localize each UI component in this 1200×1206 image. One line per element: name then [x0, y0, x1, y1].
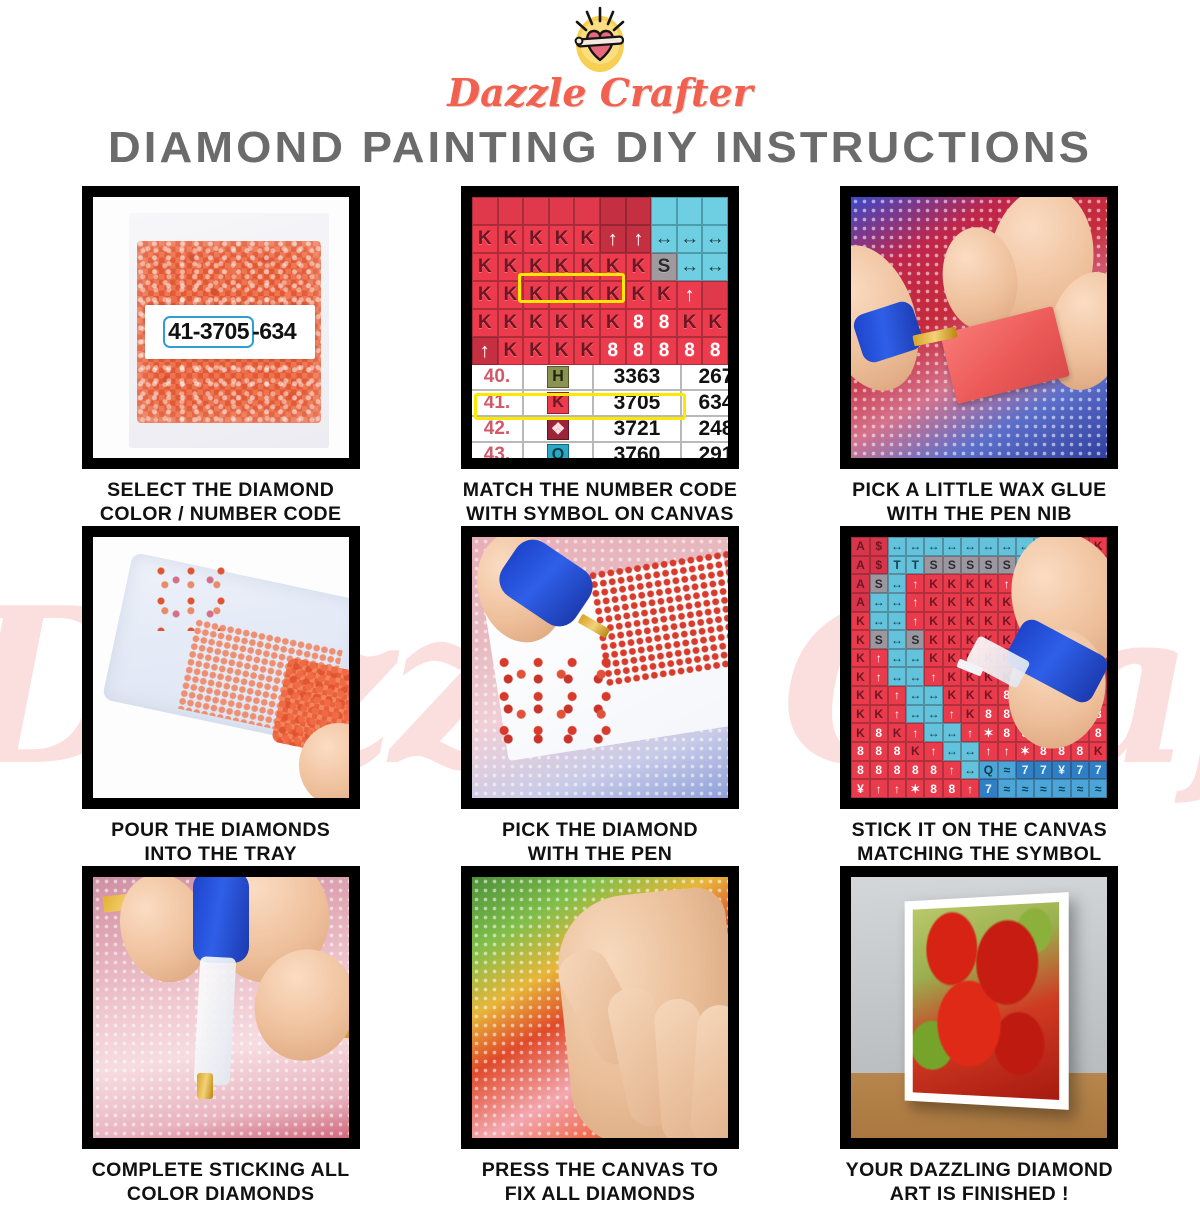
row-number: 40. — [472, 365, 524, 389]
row-symbol-cell: Q — [524, 443, 594, 458]
step-5-caption-line1: PICK THE DIAMOND — [450, 818, 750, 842]
bag-code-text: 41-3705-634 — [163, 316, 296, 348]
row-dmc-code: 3363 — [594, 365, 682, 389]
step-1-image: 41-3705-634 — [82, 186, 360, 469]
step-8-caption: PRESS THE CANVAS TO FIX ALL DIAMONDS — [450, 1158, 750, 1206]
step-7-image — [82, 866, 360, 1149]
table-row: 42. ❖ 3721 248 — [472, 417, 728, 443]
step-9-caption-line2: ART IS FINISHED ! — [829, 1182, 1129, 1206]
step-8-image — [461, 866, 739, 1149]
table-row: 40. H 3363 267 — [472, 365, 728, 391]
step-card-4: POUR THE DIAMONDS INTO THE TRAY — [62, 526, 379, 866]
pen-nib — [197, 1073, 213, 1099]
step-2-caption: MATCH THE NUMBER CODE WITH SYMBOL ON CAN… — [450, 478, 750, 526]
row-number: 43. — [472, 443, 524, 458]
step-5-image — [461, 526, 739, 809]
step-3-caption-line1: PICK A LITTLE WAX GLUE — [829, 478, 1129, 502]
bag-code-label: 41-3705-634 — [145, 305, 315, 359]
symbol-swatch: K — [547, 392, 569, 414]
bag-code-highlight: 41-3705 — [163, 316, 254, 348]
poster-header: Dazzle Crafter DIAMOND PAINTING DIY INST… — [0, 0, 1200, 172]
picture-frame — [905, 892, 1069, 1110]
row-symbol-cell: K — [524, 391, 594, 415]
row-dmc-code: 3705 — [594, 391, 682, 415]
instruction-poster: Dazzle Crafter DIAMOND PAINTING DIY INST… — [0, 0, 1200, 1200]
row-quantity: 291 — [682, 443, 728, 458]
color-legend-table: 40. H 3363 267 41. K 3705 634 — [472, 365, 728, 458]
canvas-grid-highlight — [518, 273, 625, 303]
table-row: 41. K 3705 634 — [472, 391, 728, 417]
step-4-image — [82, 526, 360, 809]
step-6-caption: STICK IT ON THE CANVAS MATCHING THE SYMB… — [829, 818, 1129, 866]
step-card-6: A$↔↔↔↔↔↔↔↔↔↑KK A$TTSSSSS↔↔SKK AS↔↑KKKK↑↔… — [821, 526, 1138, 866]
steps-grid: 41-3705-634 SELECT THE DIAMOND COLOR / N… — [0, 186, 1200, 1206]
step-5-caption-line2: WITH THE PEN — [450, 842, 750, 866]
row-quantity: 248 — [682, 417, 728, 441]
row-quantity: 634 — [682, 391, 728, 415]
bag-code-suffix: -634 — [252, 318, 296, 344]
step-2-caption-line2: WITH SYMBOL ON CANVAS — [450, 502, 750, 526]
heart-with-pin-icon — [563, 4, 637, 76]
step-2-image: KKK KK ↑↑ ↔↔↔ KKK KKKK S↔↔ KKK KKKK K↑ — [461, 186, 739, 469]
step-card-7: COMPLETE STICKING ALL COLOR DIAMONDS — [62, 866, 379, 1206]
color-chart: KKK KK ↑↑ ↔↔↔ KKK KKKK S↔↔ KKK KKKK K↑ — [472, 197, 728, 458]
symbol-canvas: A$↔↔↔↔↔↔↔↔↔↑KK A$TTSSSSS↔↔SKK AS↔↑KKKK↑↔… — [851, 537, 1107, 798]
step-6-caption-line1: STICK IT ON THE CANVAS — [829, 818, 1129, 842]
step-1-caption: SELECT THE DIAMOND COLOR / NUMBER CODE — [71, 478, 371, 526]
step-5-caption: PICK THE DIAMOND WITH THE PEN — [450, 818, 750, 866]
step-7-caption: COMPLETE STICKING ALL COLOR DIAMONDS — [71, 1158, 371, 1206]
step-card-3: PICK A LITTLE WAX GLUE WITH THE PEN NIB — [821, 186, 1138, 526]
step-4-caption-line2: INTO THE TRAY — [71, 842, 371, 866]
row-symbol-cell: H — [524, 365, 594, 389]
row-number: 41. — [472, 391, 524, 415]
step-4-caption-line1: POUR THE DIAMONDS — [71, 818, 371, 842]
step-card-1: 41-3705-634 SELECT THE DIAMOND COLOR / N… — [62, 186, 379, 526]
row-dmc-code: 3721 — [594, 417, 682, 441]
step-2-caption-line1: MATCH THE NUMBER CODE — [450, 478, 750, 502]
step-6-caption-line2: MATCHING THE SYMBOL — [829, 842, 1129, 866]
row-dmc-code: 3760 — [594, 443, 682, 458]
step-card-2: KKK KK ↑↑ ↔↔↔ KKK KKKK S↔↔ KKK KKKK K↑ — [441, 186, 758, 526]
symbol-swatch: H — [547, 366, 569, 388]
symbol-swatch: Q — [547, 444, 569, 458]
step-card-9: YOUR DAZZLING DIAMOND ART IS FINISHED ! — [821, 866, 1138, 1206]
step-3-caption: PICK A LITTLE WAX GLUE WITH THE PEN NIB — [829, 478, 1129, 526]
step-3-caption-line2: WITH THE PEN NIB — [829, 502, 1129, 526]
symbol-swatch: ❖ — [547, 418, 569, 440]
poppy-diamond-art — [913, 902, 1059, 1100]
step-4-caption: POUR THE DIAMONDS INTO THE TRAY — [71, 818, 371, 866]
step-8-caption-line1: PRESS THE CANVAS TO — [450, 1158, 750, 1182]
step-card-5: PICK THE DIAMOND WITH THE PEN — [441, 526, 758, 866]
table-row: 43. Q 3760 291 — [472, 443, 728, 458]
step-6-image: A$↔↔↔↔↔↔↔↔↔↑KK A$TTSSSSS↔↔SKK AS↔↑KKKK↑↔… — [840, 526, 1118, 809]
step-1-caption-line2: COLOR / NUMBER CODE — [71, 502, 371, 526]
step-9-image — [840, 866, 1118, 1149]
step-9-caption-line1: YOUR DAZZLING DIAMOND — [829, 1158, 1129, 1182]
step-card-8: PRESS THE CANVAS TO FIX ALL DIAMONDS — [441, 866, 758, 1206]
brand-name: Dazzle Crafter — [0, 72, 1200, 114]
loose-diamonds — [498, 655, 614, 747]
pen-grip — [193, 877, 249, 963]
step-7-caption-line2: COLOR DIAMONDS — [71, 1182, 371, 1206]
step-1-caption-line1: SELECT THE DIAMOND — [71, 478, 371, 502]
row-quantity: 267 — [682, 365, 728, 389]
pen-body — [193, 956, 236, 1086]
row-symbol-cell: ❖ — [524, 417, 594, 441]
step-7-caption-line1: COMPLETE STICKING ALL — [71, 1158, 371, 1182]
page-title: DIAMOND PAINTING DIY INSTRUCTIONS — [0, 124, 1200, 172]
step-3-image — [840, 186, 1118, 469]
row-number: 42. — [472, 417, 524, 441]
step-8-caption-line2: FIX ALL DIAMONDS — [450, 1182, 750, 1206]
step-9-caption: YOUR DAZZLING DIAMOND ART IS FINISHED ! — [829, 1158, 1129, 1206]
